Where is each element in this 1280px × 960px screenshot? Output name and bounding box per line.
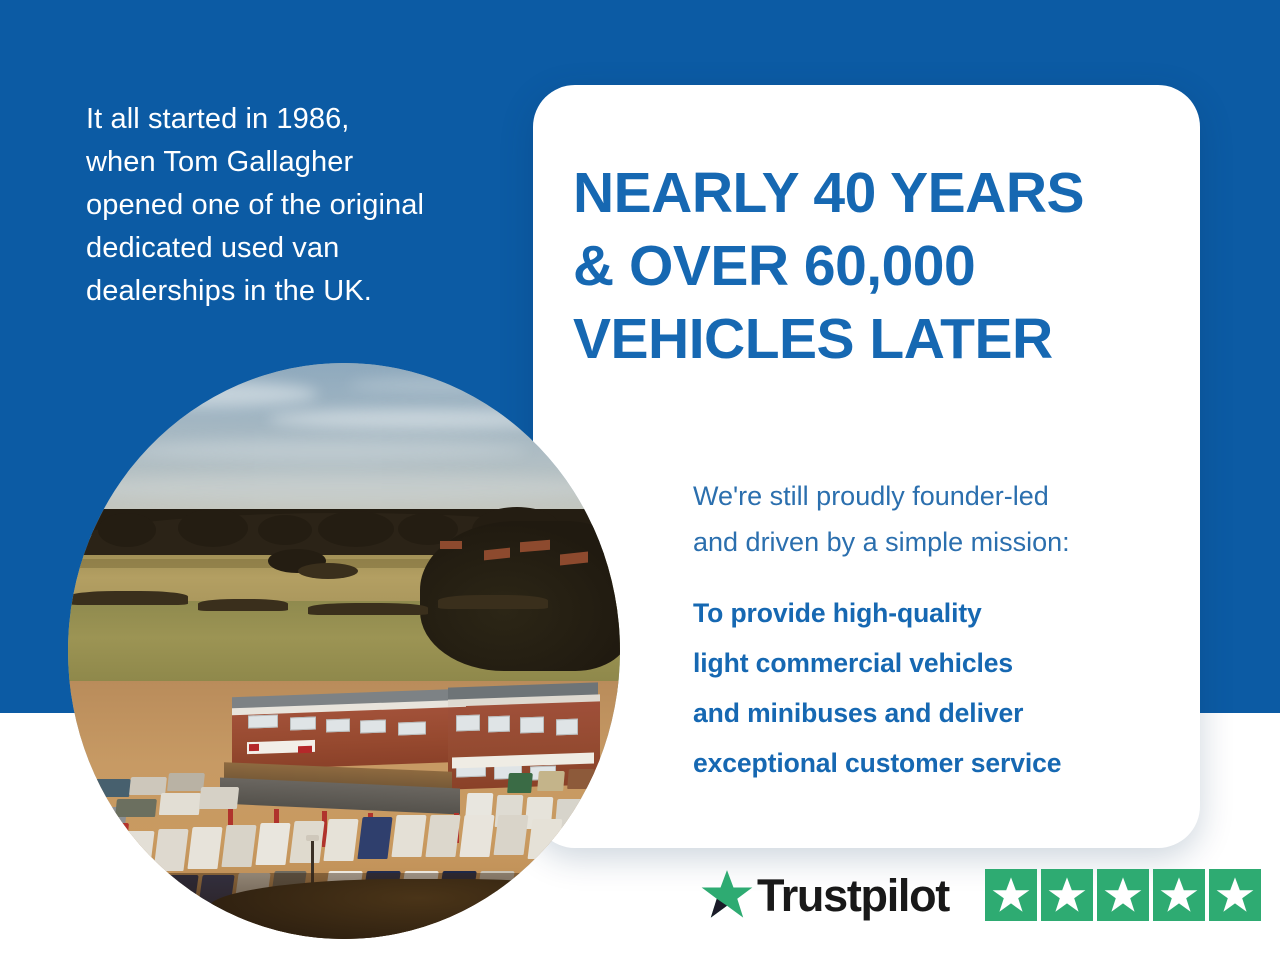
rating-star-2 <box>1041 869 1093 921</box>
rating-star-1 <box>985 869 1037 921</box>
lead-paragraph: We're still proudly founder-led and driv… <box>693 473 1193 565</box>
headline-line-3: VEHICLES LATER <box>573 303 1173 376</box>
photo-lamp-head <box>306 835 319 841</box>
headline-line-1: NEARLY 40 YEARS <box>573 157 1173 230</box>
mission-statement: To provide high-quality light commercial… <box>693 588 1183 788</box>
lead-line-1: We're still proudly founder-led <box>693 473 1193 519</box>
intro-line-4: dedicated used van <box>86 227 506 270</box>
mission-line-4: exceptional customer service <box>693 738 1183 788</box>
mission-line-2: light commercial vehicles <box>693 638 1183 688</box>
mission-line-3: and minibuses and deliver <box>693 688 1183 738</box>
intro-line-1: It all started in 1986, <box>86 98 506 141</box>
intro-line-5: dealerships in the UK. <box>86 270 506 313</box>
trustpilot-star-icon <box>700 868 754 922</box>
intro-line-2: when Tom Gallagher <box>86 141 506 184</box>
photo-foreground-scrub <box>208 879 620 939</box>
content-card: NEARLY 40 YEARS & OVER 60,000 VEHICLES L… <box>533 85 1200 848</box>
rating-star-5 <box>1209 869 1261 921</box>
intro-paragraph: It all started in 1986, when Tom Gallagh… <box>86 98 506 313</box>
trustpilot-badge[interactable]: Trustpilot <box>700 864 1261 926</box>
lead-line-2: and driven by a simple mission: <box>693 519 1193 565</box>
trustpilot-rating-stars <box>985 869 1261 921</box>
intro-line-3: opened one of the original <box>86 184 506 227</box>
rating-star-3 <box>1097 869 1149 921</box>
dealership-photo <box>68 363 620 939</box>
rating-star-4 <box>1153 869 1205 921</box>
page-title: NEARLY 40 YEARS & OVER 60,000 VEHICLES L… <box>573 157 1173 376</box>
infographic-canvas: It all started in 1986, when Tom Gallagh… <box>0 0 1280 960</box>
mission-line-1: To provide high-quality <box>693 588 1183 638</box>
trustpilot-wordmark: Trustpilot <box>757 873 949 918</box>
headline-line-2: & OVER 60,000 <box>573 230 1173 303</box>
